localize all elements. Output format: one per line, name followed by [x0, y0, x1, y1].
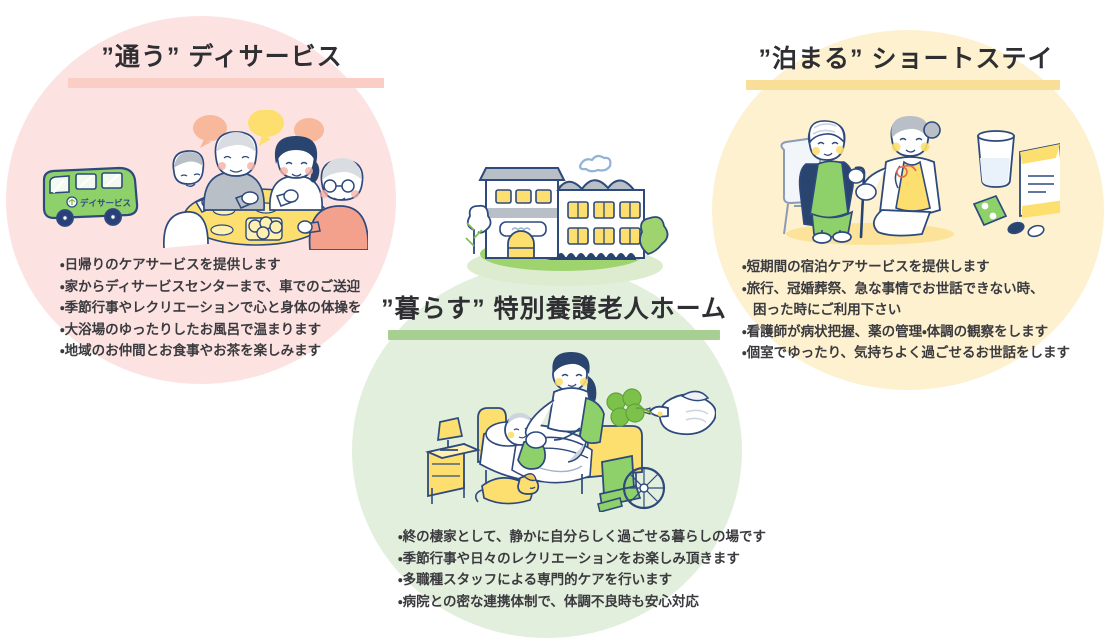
day-service-title-underline	[68, 78, 384, 88]
bullet-item: ・旅行、冠婚葬祭、急な事情でお世話できない時、	[742, 278, 1070, 300]
bullet-item: ・多職種スタッフによる専門的ケアを行います	[398, 569, 766, 591]
nursing-home-title: ”暮らす” 特別養護老人ホーム	[378, 296, 730, 324]
bullet-item: ・看護師が病状把握、薬の管理・体調の観察をします	[742, 321, 1070, 343]
short-stay-title: ”泊まる” ショートステイ	[730, 46, 1082, 74]
nursing-home-bullet-list: ・終の棲家として、静かに自分らしく過ごせる暮らしの場です ・季節行事や日々のレク…	[398, 526, 766, 612]
bullet-item: ・家からディサービスセンターまで、車でのご送迎	[60, 276, 361, 298]
short-stay-title-block: ”泊まる” ショートステイ	[730, 46, 1082, 90]
bullet-item: ・日帰りのケアサービスを提供します	[60, 254, 361, 276]
nursing-home-scene-illustration	[420, 352, 716, 517]
day-service-title: ”通う” ディサービス	[46, 44, 398, 72]
bullet-item: ・大浴場のゆったりしたお風呂で温まります	[60, 319, 361, 341]
day-service-bullet-list: ・日帰りのケアサービスを提供します ・家からディサービスセンターまで、車でのご送…	[60, 254, 361, 362]
short-stay-title-underline	[746, 80, 1060, 90]
bullet-item: ・季節行事や日々のレクリエーションをお楽しみ頂きます	[398, 548, 766, 570]
nursing-home-title-block: ”暮らす” 特別養護老人ホーム	[378, 296, 730, 340]
nursing-home-title-underline	[388, 330, 720, 340]
short-stay-scene-illustration	[766, 106, 1060, 251]
short-stay-bullet-list: ・短期間の宿泊ケアサービスを提供します ・旅行、冠婚葬祭、急な事情でお世話できな…	[742, 256, 1070, 364]
day-service-table-scene-illustration	[150, 110, 368, 255]
day-service-title-block: ”通う” ディサービス	[46, 44, 398, 88]
day-service-bus-illustration: デイサービス	[34, 160, 146, 239]
bullet-item: ・病院との密な連携体制で、体調不良時も安心対応	[398, 591, 766, 613]
infographic-canvas: ”通う” ディサービス デイサービス	[0, 0, 1110, 638]
bus-label-text: デイサービス	[80, 198, 131, 208]
bullet-item: ・季節行事やレクリエーションで心と身体の体操を	[60, 297, 361, 319]
care-facility-building-illustration	[452, 150, 678, 295]
bullet-item: ・個室でゆったり、気持ちよく過ごせるお世話をします	[742, 342, 1070, 364]
bullet-item: ・終の棲家として、静かに自分らしく過ごせる暮らしの場です	[398, 526, 766, 548]
bullet-item-continued: 困った時にご利用下さい	[742, 299, 1070, 321]
bullet-item: ・地域のお仲間とお食事やお茶を楽しみます	[60, 340, 361, 362]
bullet-item: ・短期間の宿泊ケアサービスを提供します	[742, 256, 1070, 278]
